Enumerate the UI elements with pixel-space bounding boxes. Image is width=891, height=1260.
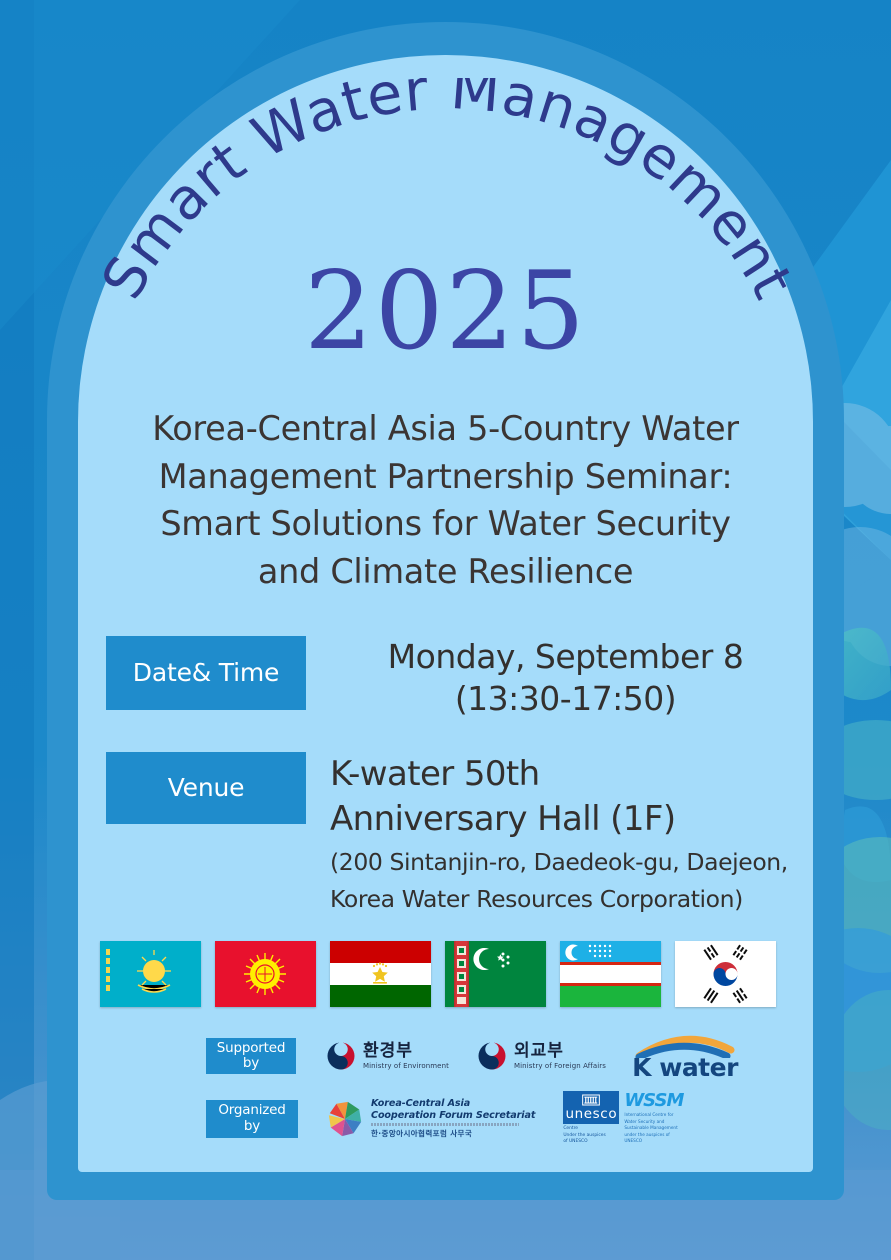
title-line-1: Korea-Central Asia 5-Country Water — [95, 405, 796, 453]
organized-by-tag-line1: Organized — [218, 1103, 285, 1118]
wssm-logo: WSSM International Centre for Water Secu… — [624, 1092, 686, 1145]
organized-by-tag-line2: by — [244, 1119, 260, 1134]
datetime-line-1: Monday, September 8 — [330, 636, 801, 678]
datetime-value: Monday, September 8 (13:30-17:50) — [306, 636, 831, 720]
ministry-of-foreign-affairs-logo: 외교부 Ministry of Foreign Affairs — [477, 1041, 606, 1071]
venue-tag: Venue — [106, 752, 306, 824]
kazakhstan-flag — [100, 941, 201, 1007]
ministry-of-foreign-affairs-en: Ministry of Foreign Affairs — [514, 1063, 606, 1070]
datetime-line-2: (13:30-17:50) — [330, 678, 801, 720]
supported-by-tag-line2: by — [243, 1056, 259, 1071]
unesco-subtitle: Centre Under the auspices of UNESCO — [563, 1126, 619, 1146]
venue-line-1: K-water 50th — [330, 752, 831, 797]
venue-address-line-2: Korea Water Resources Corporation) — [330, 883, 831, 915]
supported-by-logos: 환경부 Ministry of Environment 외교부 Ministry… — [296, 1032, 738, 1080]
unesco-logo: unesco Centre Under the auspices of UNES… — [563, 1091, 619, 1146]
venue-address-line-1: (200 Sintanjin-ro, Daedeok-gu, Daejeon, — [330, 846, 831, 878]
organized-by-logos: Korea-Central Asia Cooperation Forum Sec… — [298, 1091, 686, 1146]
supported-by-tag: Supported by — [206, 1038, 296, 1074]
pinwheel-icon — [326, 1100, 364, 1138]
page-title: Korea-Central Asia 5-Country Water Manag… — [95, 405, 796, 595]
turkmenistan-flag — [445, 941, 546, 1007]
supported-by-tag-line1: Supported — [217, 1041, 285, 1056]
unesco-badge: unesco — [563, 1091, 619, 1124]
uzbekistan-flag — [560, 941, 661, 1007]
year-label: 2025 — [0, 258, 891, 366]
ministry-of-environment-ko: 환경부 — [363, 1043, 449, 1060]
datetime-tag: Date& Time — [106, 636, 306, 710]
venue-value: K-water 50th Anniversary Hall (1F) (200 … — [306, 752, 831, 915]
korea-central-asia-forum-logo: Korea-Central Asia Cooperation Forum Sec… — [326, 1098, 535, 1139]
unesco-wordmark: unesco — [563, 1107, 619, 1121]
organized-by-tag: Organized by — [206, 1100, 298, 1138]
kca-divider — [371, 1123, 519, 1126]
kyrgyzstan-flag — [215, 941, 316, 1007]
supported-by-row: Supported by 환경부 Ministry of Environment — [206, 1032, 738, 1080]
wssm-wordmark: WSSM — [624, 1092, 686, 1110]
ministry-of-foreign-affairs-ko: 외교부 — [514, 1043, 606, 1060]
kwater-water: water — [659, 1053, 738, 1082]
info-row-venue: Venue K-water 50th Anniversary Hall (1F)… — [106, 752, 831, 915]
tajikistan-flag — [330, 941, 431, 1007]
wssm-subtitle: International Centre for Water Security … — [624, 1112, 686, 1145]
ministry-of-environment-logo: 환경부 Ministry of Environment — [326, 1041, 449, 1071]
event-info-block: Date& Time Monday, September 8 (13:30-17… — [106, 636, 831, 915]
info-row-datetime: Date& Time Monday, September 8 (13:30-17… — [106, 636, 831, 720]
ministry-of-environment-en: Ministry of Environment — [363, 1063, 449, 1070]
south-korea-flag — [675, 941, 776, 1007]
kca-line-2: Cooperation Forum Secretariat — [371, 1110, 535, 1122]
venue-line-2: Anniversary Hall (1F) — [330, 797, 831, 842]
taegeuk-icon — [477, 1041, 507, 1071]
title-line-3: Smart Solutions for Water Security — [95, 500, 796, 548]
kwater-wordmark: K water — [632, 1055, 738, 1080]
poster-root: Smart Water Management 2025 Korea-Centra… — [0, 0, 891, 1260]
taegeuk-icon — [326, 1041, 356, 1071]
organized-by-row: Organized by — [206, 1091, 686, 1146]
title-line-4: and Climate Resilience — [95, 548, 796, 596]
kwater-k: K — [632, 1053, 651, 1082]
kca-line-3: 한·중앙아시아협력포럼 사무국 — [371, 1128, 535, 1139]
title-line-2: Management Partnership Seminar: — [95, 453, 796, 501]
kwater-logo: K water — [632, 1032, 738, 1080]
participant-flags — [100, 941, 776, 1007]
kca-line-1: Korea-Central Asia — [371, 1098, 535, 1110]
unesco-temple-icon — [581, 1093, 601, 1107]
